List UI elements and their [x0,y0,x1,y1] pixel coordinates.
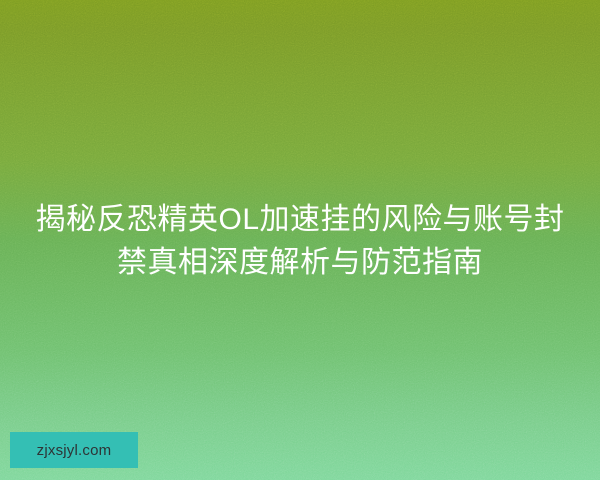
site-watermark-badge: zjxsjyl.com [10,432,138,468]
page-title-line-2: 禁真相深度解析与防范指南 [20,241,580,284]
page-title: 揭秘反恐精英OL加速挂的风险与账号封 禁真相深度解析与防范指南 [0,198,600,284]
page-title-line-1: 揭秘反恐精英OL加速挂的风险与账号封 [20,198,580,241]
banner-canvas: 揭秘反恐精英OL加速挂的风险与账号封 禁真相深度解析与防范指南 zjxsjyl.… [0,0,600,480]
site-watermark-text: zjxsjyl.com [37,443,112,458]
